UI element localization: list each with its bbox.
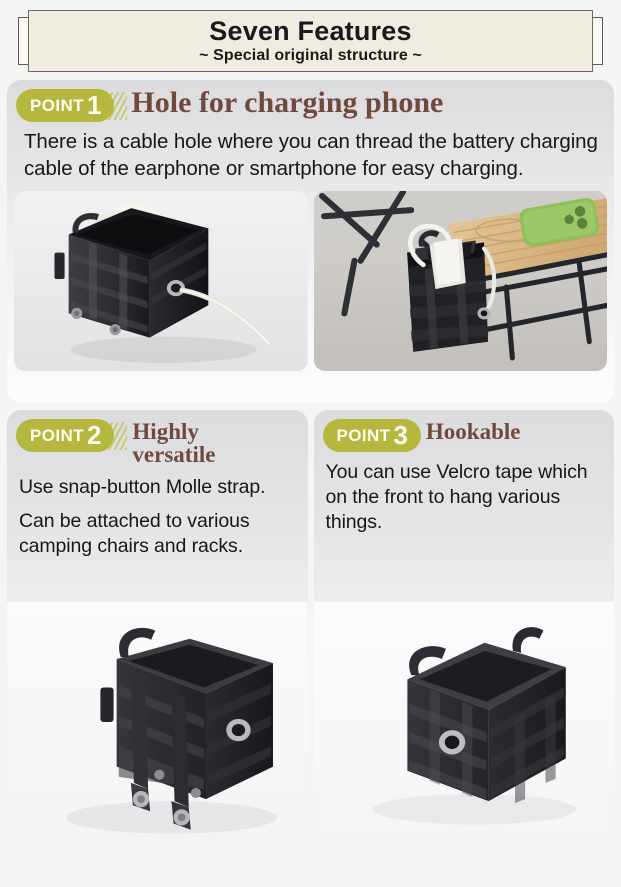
point-1-photo-row [7, 182, 614, 371]
point-1-section: POINT 1 Hole for charging phone There is… [7, 80, 614, 403]
photo-pouch-front-grommet [314, 602, 615, 847]
title-banner: Seven Features ~ Special original struct… [28, 8, 593, 74]
bottom-points-row: POINT 2 Highly versatile Use snap-button… [0, 403, 621, 847]
badge-pill: POINT 2 [16, 419, 114, 452]
photo-pouch-on-camp-table [314, 191, 608, 371]
page-subtitle: ~ Special original structure ~ [199, 47, 422, 65]
badge-number: 3 [393, 422, 407, 448]
page-title: Seven Features [209, 17, 411, 45]
point-1-body: There is a cable hole where you can thre… [7, 122, 614, 182]
point-2-body: Use snap-button Molle strap. Can be atta… [7, 467, 308, 559]
badge-label: POINT [30, 427, 84, 444]
point-1-title: Hole for charging phone [131, 88, 443, 119]
photo-pouch-cable-grommet [14, 191, 308, 371]
point-2-title: Highly versatile [132, 420, 215, 467]
point-3-header: POINT 3 Hookable [314, 410, 615, 452]
point-3-body: You can use Velcro tape which on the fro… [314, 452, 615, 535]
point-2-badge: POINT 2 [16, 419, 127, 452]
point-3-badge: POINT 3 [323, 419, 421, 452]
point-2-section: POINT 2 Highly versatile Use snap-button… [7, 410, 308, 847]
badge-pill: POINT 1 [16, 89, 114, 122]
point-3-title: Hookable [426, 420, 521, 443]
badge-label: POINT [337, 427, 391, 444]
badge-pill: POINT 3 [323, 419, 421, 452]
badge-label: POINT [30, 97, 84, 114]
point-2-paragraph-1: Use snap-button Molle strap. [19, 475, 298, 500]
point-2-header: POINT 2 Highly versatile [7, 410, 308, 467]
photo-pouch-molle-straps [7, 602, 308, 847]
point-2-title-line-2: versatile [132, 443, 215, 466]
banner-inner: Seven Features ~ Special original struct… [28, 10, 593, 72]
point-1-badge: POINT 1 [16, 89, 127, 122]
point-2-title-line-1: Highly [132, 420, 215, 443]
point-1-header: POINT 1 Hole for charging phone [7, 80, 614, 122]
badge-number: 2 [87, 422, 101, 448]
badge-number: 1 [87, 92, 101, 118]
point-3-section: POINT 3 Hookable You can use Velcro tape… [314, 410, 615, 847]
point-2-paragraph-2: Can be attached to various camping chair… [19, 509, 298, 559]
